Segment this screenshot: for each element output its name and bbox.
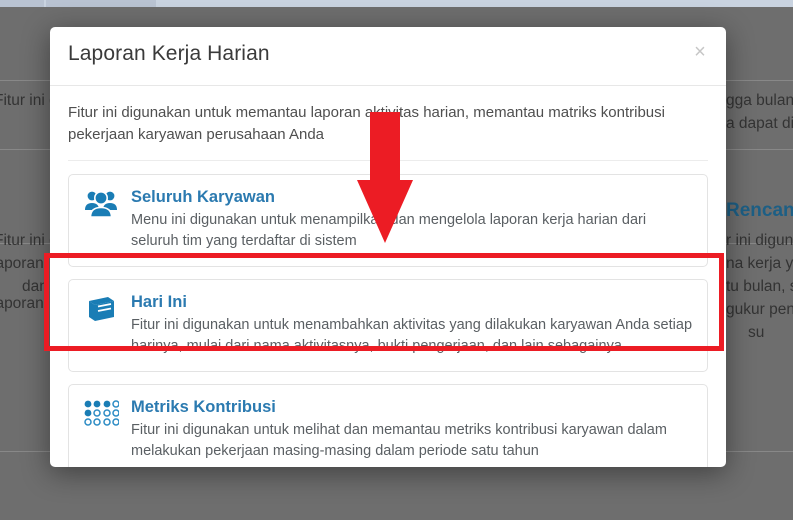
dot-matrix-icon (83, 397, 119, 435)
screen-root: Fitur ini d Fitur ini d laporan dan s la… (0, 0, 793, 520)
feature-title: Metriks Kontribusi (131, 397, 693, 418)
modal-header: Laporan Kerja Harian × (50, 27, 726, 86)
feature-text: Hari Ini Fitur ini digunakan untuk menam… (131, 292, 693, 357)
background-heading-right: Rencan (726, 200, 793, 222)
feature-description: Fitur ini digunakan untuk melihat dan me… (131, 420, 693, 462)
browser-tab-1[interactable] (0, 0, 44, 7)
feature-text: Metriks Kontribusi Fitur ini digunakan u… (131, 397, 693, 462)
book-icon (83, 292, 119, 330)
feature-item-seluruh-karyawan[interactable]: Seluruh Karyawan Menu ini digunakan untu… (68, 174, 708, 267)
browser-tab-2[interactable] (46, 0, 156, 7)
modal-body: Fitur ini digunakan untuk memantau lapor… (50, 86, 726, 467)
background-text-right-3: r ini digun (726, 229, 793, 252)
modal-intro-text: Fitur ini digunakan untuk memantau lapor… (68, 102, 668, 146)
feature-description: Fitur ini digunakan untuk menambahkan ak… (131, 315, 693, 357)
background-text-right-4: na kerja y (726, 252, 793, 275)
feature-list: Seluruh Karyawan Menu ini digunakan untu… (68, 174, 708, 467)
modal-title: Laporan Kerja Harian (68, 42, 270, 66)
background-text-right-5: tu bulan, s (726, 275, 793, 298)
people-group-icon (83, 187, 119, 225)
feature-item-metriks-kontribusi[interactable]: Metriks Kontribusi Fitur ini digunakan u… (68, 384, 708, 467)
background-text-right-7: su (748, 321, 764, 344)
close-icon[interactable]: × (689, 41, 711, 63)
feature-description: Menu ini digunakan untuk menampilkan dan… (131, 210, 693, 252)
background-text-left-5: laporan (0, 292, 44, 315)
background-text-left-3: laporan (0, 252, 44, 275)
background-text-right-2: a dapat di (726, 112, 793, 135)
feature-title: Seluruh Karyawan (131, 187, 693, 208)
laporan-kerja-harian-modal: Laporan Kerja Harian × Fitur ini digunak… (50, 27, 726, 467)
background-text-right-1: gga bulan (726, 89, 793, 112)
feature-title: Hari Ini (131, 292, 693, 313)
feature-text: Seluruh Karyawan Menu ini digunakan untu… (131, 187, 693, 252)
intro-divider (68, 160, 708, 161)
browser-tab-strip (0, 0, 793, 7)
background-text-right-6: gukur pen (726, 298, 793, 321)
feature-item-hari-ini[interactable]: Hari Ini Fitur ini digunakan untuk menam… (68, 279, 708, 372)
